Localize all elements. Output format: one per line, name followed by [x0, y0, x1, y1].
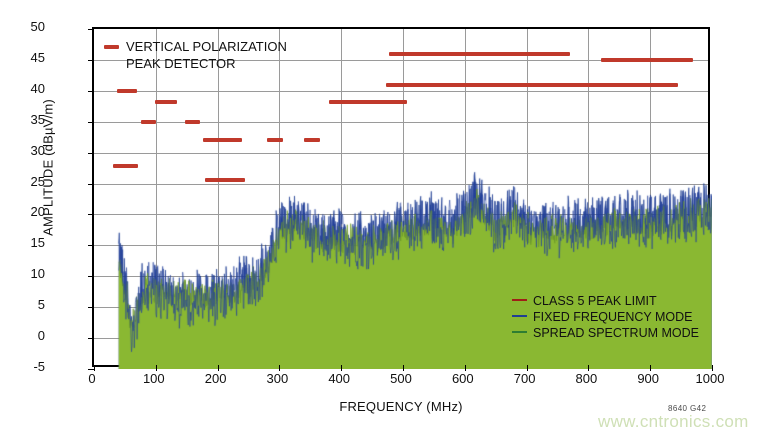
limit-segment — [117, 89, 137, 93]
legend-top-line2: PEAK DETECTOR — [126, 55, 287, 72]
y-axis-tick-label: 15 — [5, 236, 45, 249]
limit-segment — [203, 138, 243, 142]
y-axis-tick-label: 10 — [5, 267, 45, 280]
x-axis-tick-label: 900 — [618, 372, 678, 385]
legend-swatch-blue-icon — [512, 315, 527, 318]
limit-segment — [389, 52, 569, 56]
y-axis-tick — [88, 60, 94, 61]
chart-figure: AMPLITUDE (dBµV/m) FREQUENCY (MHz) VERTI… — [0, 0, 761, 444]
legend-item-spread-spectrum: SPREAD SPECTRUM MODE — [512, 325, 699, 341]
legend-swatch-green-icon — [512, 331, 527, 334]
limit-segment — [304, 138, 320, 142]
y-axis-tick — [88, 276, 94, 277]
plot-area: VERTICAL POLARIZATION PEAK DETECTOR CLAS… — [92, 27, 710, 367]
legend-label-fixed-frequency: FIXED FREQUENCY MODE — [533, 310, 693, 324]
legend-label-class5: CLASS 5 PEAK LIMIT — [533, 294, 657, 308]
y-axis-tick-label: 5 — [5, 298, 45, 311]
limit-segment — [185, 120, 200, 124]
watermark: www.cntronics.com — [598, 412, 749, 432]
x-axis-tick-label: 800 — [556, 372, 616, 385]
y-axis-tick-label: -5 — [5, 360, 45, 373]
limit-segment — [155, 100, 177, 104]
limit-segment — [205, 178, 245, 182]
y-axis-tick — [88, 214, 94, 215]
y-axis-tick — [88, 245, 94, 246]
limit-segment — [267, 138, 283, 142]
y-axis-tick-label: 50 — [5, 20, 45, 33]
x-axis-tick-label: 400 — [309, 372, 369, 385]
y-axis-tick — [88, 91, 94, 92]
y-axis-tick-label: 20 — [5, 205, 45, 218]
limit-segment — [329, 100, 407, 104]
x-axis-tick-label: 200 — [186, 372, 246, 385]
y-axis-tick-label: 0 — [5, 329, 45, 342]
x-axis-tick-label: 700 — [495, 372, 555, 385]
legend-top-line1: VERTICAL POLARIZATION — [126, 39, 287, 54]
y-axis-tick-label: 30 — [5, 144, 45, 157]
y-axis-tick-label: 40 — [5, 82, 45, 95]
x-axis-tick-label: 100 — [124, 372, 184, 385]
y-axis-tick — [88, 184, 94, 185]
y-axis-tick-label: 25 — [5, 175, 45, 188]
limit-segment — [386, 83, 678, 87]
y-axis-tick — [88, 338, 94, 339]
x-axis-tick-label: 0 — [62, 372, 122, 385]
legend-item-fixed-frequency: FIXED FREQUENCY MODE — [512, 309, 699, 325]
y-axis-tick — [88, 307, 94, 308]
legend-swatch-red-icon — [512, 299, 527, 302]
y-axis-tick-label: 35 — [5, 113, 45, 126]
legend-label-spread-spectrum: SPREAD SPECTRUM MODE — [533, 326, 699, 340]
series-legend: CLASS 5 PEAK LIMIT FIXED FREQUENCY MODE … — [512, 293, 699, 341]
x-axis-tick-label: 300 — [247, 372, 307, 385]
x-axis-tick-label: 1000 — [680, 372, 740, 385]
limit-segment — [141, 120, 156, 124]
limit-segment — [113, 164, 139, 168]
y-axis-tick — [88, 122, 94, 123]
limit-segment — [601, 58, 694, 62]
x-axis-tick-label: 500 — [371, 372, 431, 385]
y-axis-tick-label: 45 — [5, 51, 45, 64]
legend-item-class5: CLASS 5 PEAK LIMIT — [512, 293, 699, 309]
x-axis-tick-label: 600 — [433, 372, 493, 385]
red-swatch-icon — [104, 45, 119, 49]
y-axis-tick — [88, 29, 94, 30]
vertical-polarization-legend: VERTICAL POLARIZATION PEAK DETECTOR — [104, 38, 287, 72]
y-axis-tick — [88, 153, 94, 154]
